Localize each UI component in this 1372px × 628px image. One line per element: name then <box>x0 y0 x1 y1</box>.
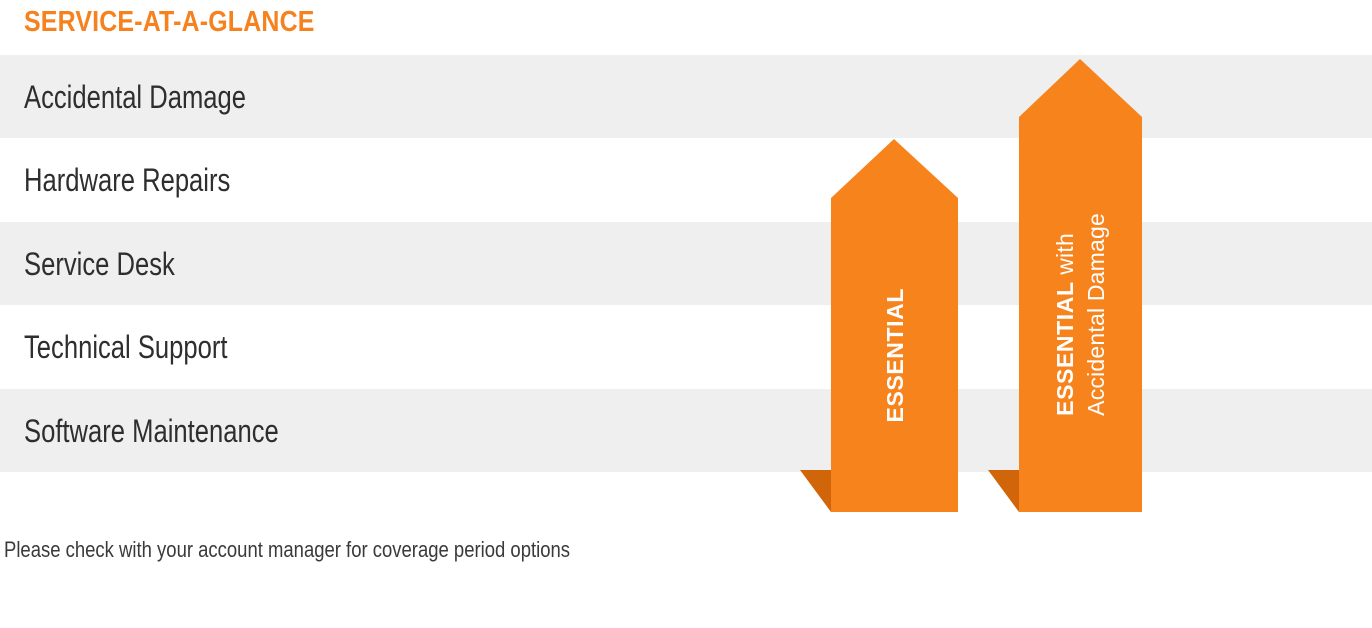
service-at-a-glance-panel: SERVICE-AT-A-GLANCE Accidental Damage Ha… <box>0 0 1372 628</box>
table-row: Service Desk <box>0 222 1372 305</box>
table-row: Software Maintenance <box>0 389 1372 472</box>
essential-ad-arrow-label: ESSENTIAL with Accidental Damage <box>1019 117 1142 512</box>
service-row-label: Technical Support <box>24 330 228 364</box>
service-rows-table: Accidental Damage Hardware Repairs Servi… <box>0 55 1372 473</box>
essential-ad-plan-qualifier: with <box>1052 233 1078 281</box>
coverage-period-note: Please check with your account manager f… <box>4 536 570 564</box>
essential-ad-label-block: ESSENTIAL with Accidental Damage <box>1050 213 1112 416</box>
table-row: Hardware Repairs <box>0 138 1372 221</box>
essential-arrow-label: ESSENTIAL <box>831 198 958 512</box>
essential-arrow-shadow <box>800 470 831 512</box>
essential-ad-plan-name-line: ESSENTIAL with <box>1050 213 1081 416</box>
page-title: SERVICE-AT-A-GLANCE <box>24 2 315 42</box>
service-row-label: Software Maintenance <box>24 414 279 448</box>
essential-ad-plan-name: ESSENTIAL <box>1052 281 1078 415</box>
service-row-label: Accidental Damage <box>24 80 246 114</box>
table-row: Technical Support <box>0 305 1372 388</box>
service-row-label: Service Desk <box>24 247 175 281</box>
table-row: Accidental Damage <box>0 55 1372 138</box>
essential-ad-arrow-shadow <box>988 470 1019 512</box>
service-row-label: Hardware Repairs <box>24 163 230 197</box>
essential-plan-name: ESSENTIAL <box>880 288 910 422</box>
essential-ad-plan-subname: Accidental Damage <box>1081 213 1112 416</box>
